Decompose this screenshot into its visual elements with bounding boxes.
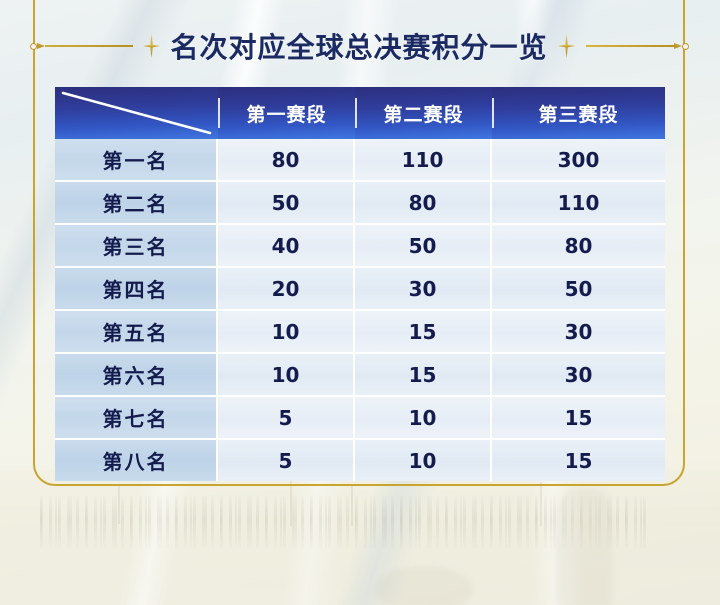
rank-label: 第八名 bbox=[55, 440, 218, 481]
rank-label: 第六名 bbox=[55, 354, 218, 397]
column-header-stage-1: 第一赛段 bbox=[218, 87, 355, 139]
table-row: 第四名 20 30 50 bbox=[55, 268, 665, 311]
table-row: 第三名 40 50 80 bbox=[55, 225, 665, 268]
table-row: 第六名 10 15 30 bbox=[55, 354, 665, 397]
diagonal-divider-icon bbox=[55, 87, 218, 139]
scene-banner bbox=[290, 480, 292, 526]
score-stage-1: 10 bbox=[218, 354, 355, 397]
scene-banner bbox=[351, 486, 353, 526]
score-stage-3: 110 bbox=[492, 182, 665, 225]
sparkle-icon bbox=[557, 34, 577, 58]
score-stage-1: 80 bbox=[218, 139, 355, 182]
background-scene-illustration bbox=[0, 470, 720, 605]
table-corner-cell bbox=[55, 87, 218, 139]
ornament-dot-icon bbox=[30, 43, 37, 50]
score-stage-1: 40 bbox=[218, 225, 355, 268]
table-row: 第八名 5 10 15 bbox=[55, 440, 665, 481]
table-row: 第五名 10 15 30 bbox=[55, 311, 665, 354]
table-header: 第一赛段 第二赛段 第三赛段 bbox=[55, 87, 665, 139]
table-row: 第七名 5 10 15 bbox=[55, 397, 665, 440]
ornament-arrow-icon bbox=[37, 43, 45, 49]
scene-ground bbox=[0, 470, 720, 605]
scene-foreground-figure bbox=[376, 566, 472, 605]
score-stage-3: 80 bbox=[492, 225, 665, 268]
table-body: 第一名 80 110 300 第二名 50 80 110 第三名 40 50 8… bbox=[55, 139, 665, 481]
score-stage-2: 80 bbox=[355, 182, 492, 225]
table-header-row: 第一赛段 第二赛段 第三赛段 bbox=[55, 87, 665, 139]
scene-banner bbox=[118, 484, 120, 524]
score-stage-1: 5 bbox=[218, 397, 355, 440]
page-title: 名次对应全球总决赛积分一览 bbox=[171, 26, 548, 66]
ornament-dot-icon bbox=[682, 43, 689, 50]
score-stage-1: 50 bbox=[218, 182, 355, 225]
sparkle-icon bbox=[142, 34, 162, 58]
infographic-panel: 名次对应全球总决赛积分一览 bbox=[0, 0, 720, 605]
rank-label: 第三名 bbox=[55, 225, 218, 268]
table-row: 第一名 80 110 300 bbox=[55, 139, 665, 182]
score-stage-3: 300 bbox=[492, 139, 665, 182]
ornament-bar bbox=[45, 45, 133, 47]
score-stage-2: 10 bbox=[355, 397, 492, 440]
score-stage-2: 10 bbox=[355, 440, 492, 481]
score-stage-1: 20 bbox=[218, 268, 355, 311]
right-ornament-line bbox=[586, 43, 689, 50]
table-row: 第二名 50 80 110 bbox=[55, 182, 665, 225]
score-stage-3: 30 bbox=[492, 354, 665, 397]
title-row: 名次对应全球总决赛积分一览 bbox=[33, 18, 685, 74]
points-table: 第一赛段 第二赛段 第三赛段 第一名 80 110 300 第二名 50 80 … bbox=[55, 87, 665, 481]
score-stage-1: 10 bbox=[218, 311, 355, 354]
score-stage-3: 50 bbox=[492, 268, 665, 311]
score-stage-2: 50 bbox=[355, 225, 492, 268]
scene-banner bbox=[540, 482, 542, 526]
rank-label: 第五名 bbox=[55, 311, 218, 354]
ornament-arrow-icon bbox=[674, 43, 682, 49]
scene-foreground-figure bbox=[556, 488, 612, 605]
rank-label: 第七名 bbox=[55, 397, 218, 440]
rank-label: 第四名 bbox=[55, 268, 218, 311]
score-stage-2: 110 bbox=[355, 139, 492, 182]
score-stage-2: 15 bbox=[355, 354, 492, 397]
column-header-stage-3: 第三赛段 bbox=[492, 87, 665, 139]
ornament-bar bbox=[586, 45, 674, 47]
rank-label: 第一名 bbox=[55, 139, 218, 182]
score-stage-3: 30 bbox=[492, 311, 665, 354]
column-header-stage-2: 第二赛段 bbox=[355, 87, 492, 139]
score-stage-2: 15 bbox=[355, 311, 492, 354]
scene-crowd bbox=[40, 496, 650, 548]
points-table-container: 第一赛段 第二赛段 第三赛段 第一名 80 110 300 第二名 50 80 … bbox=[55, 87, 665, 481]
rank-label: 第二名 bbox=[55, 182, 218, 225]
score-stage-1: 5 bbox=[218, 440, 355, 481]
score-stage-3: 15 bbox=[492, 440, 665, 481]
score-stage-2: 30 bbox=[355, 268, 492, 311]
score-stage-3: 15 bbox=[492, 397, 665, 440]
left-ornament-line bbox=[30, 43, 133, 50]
